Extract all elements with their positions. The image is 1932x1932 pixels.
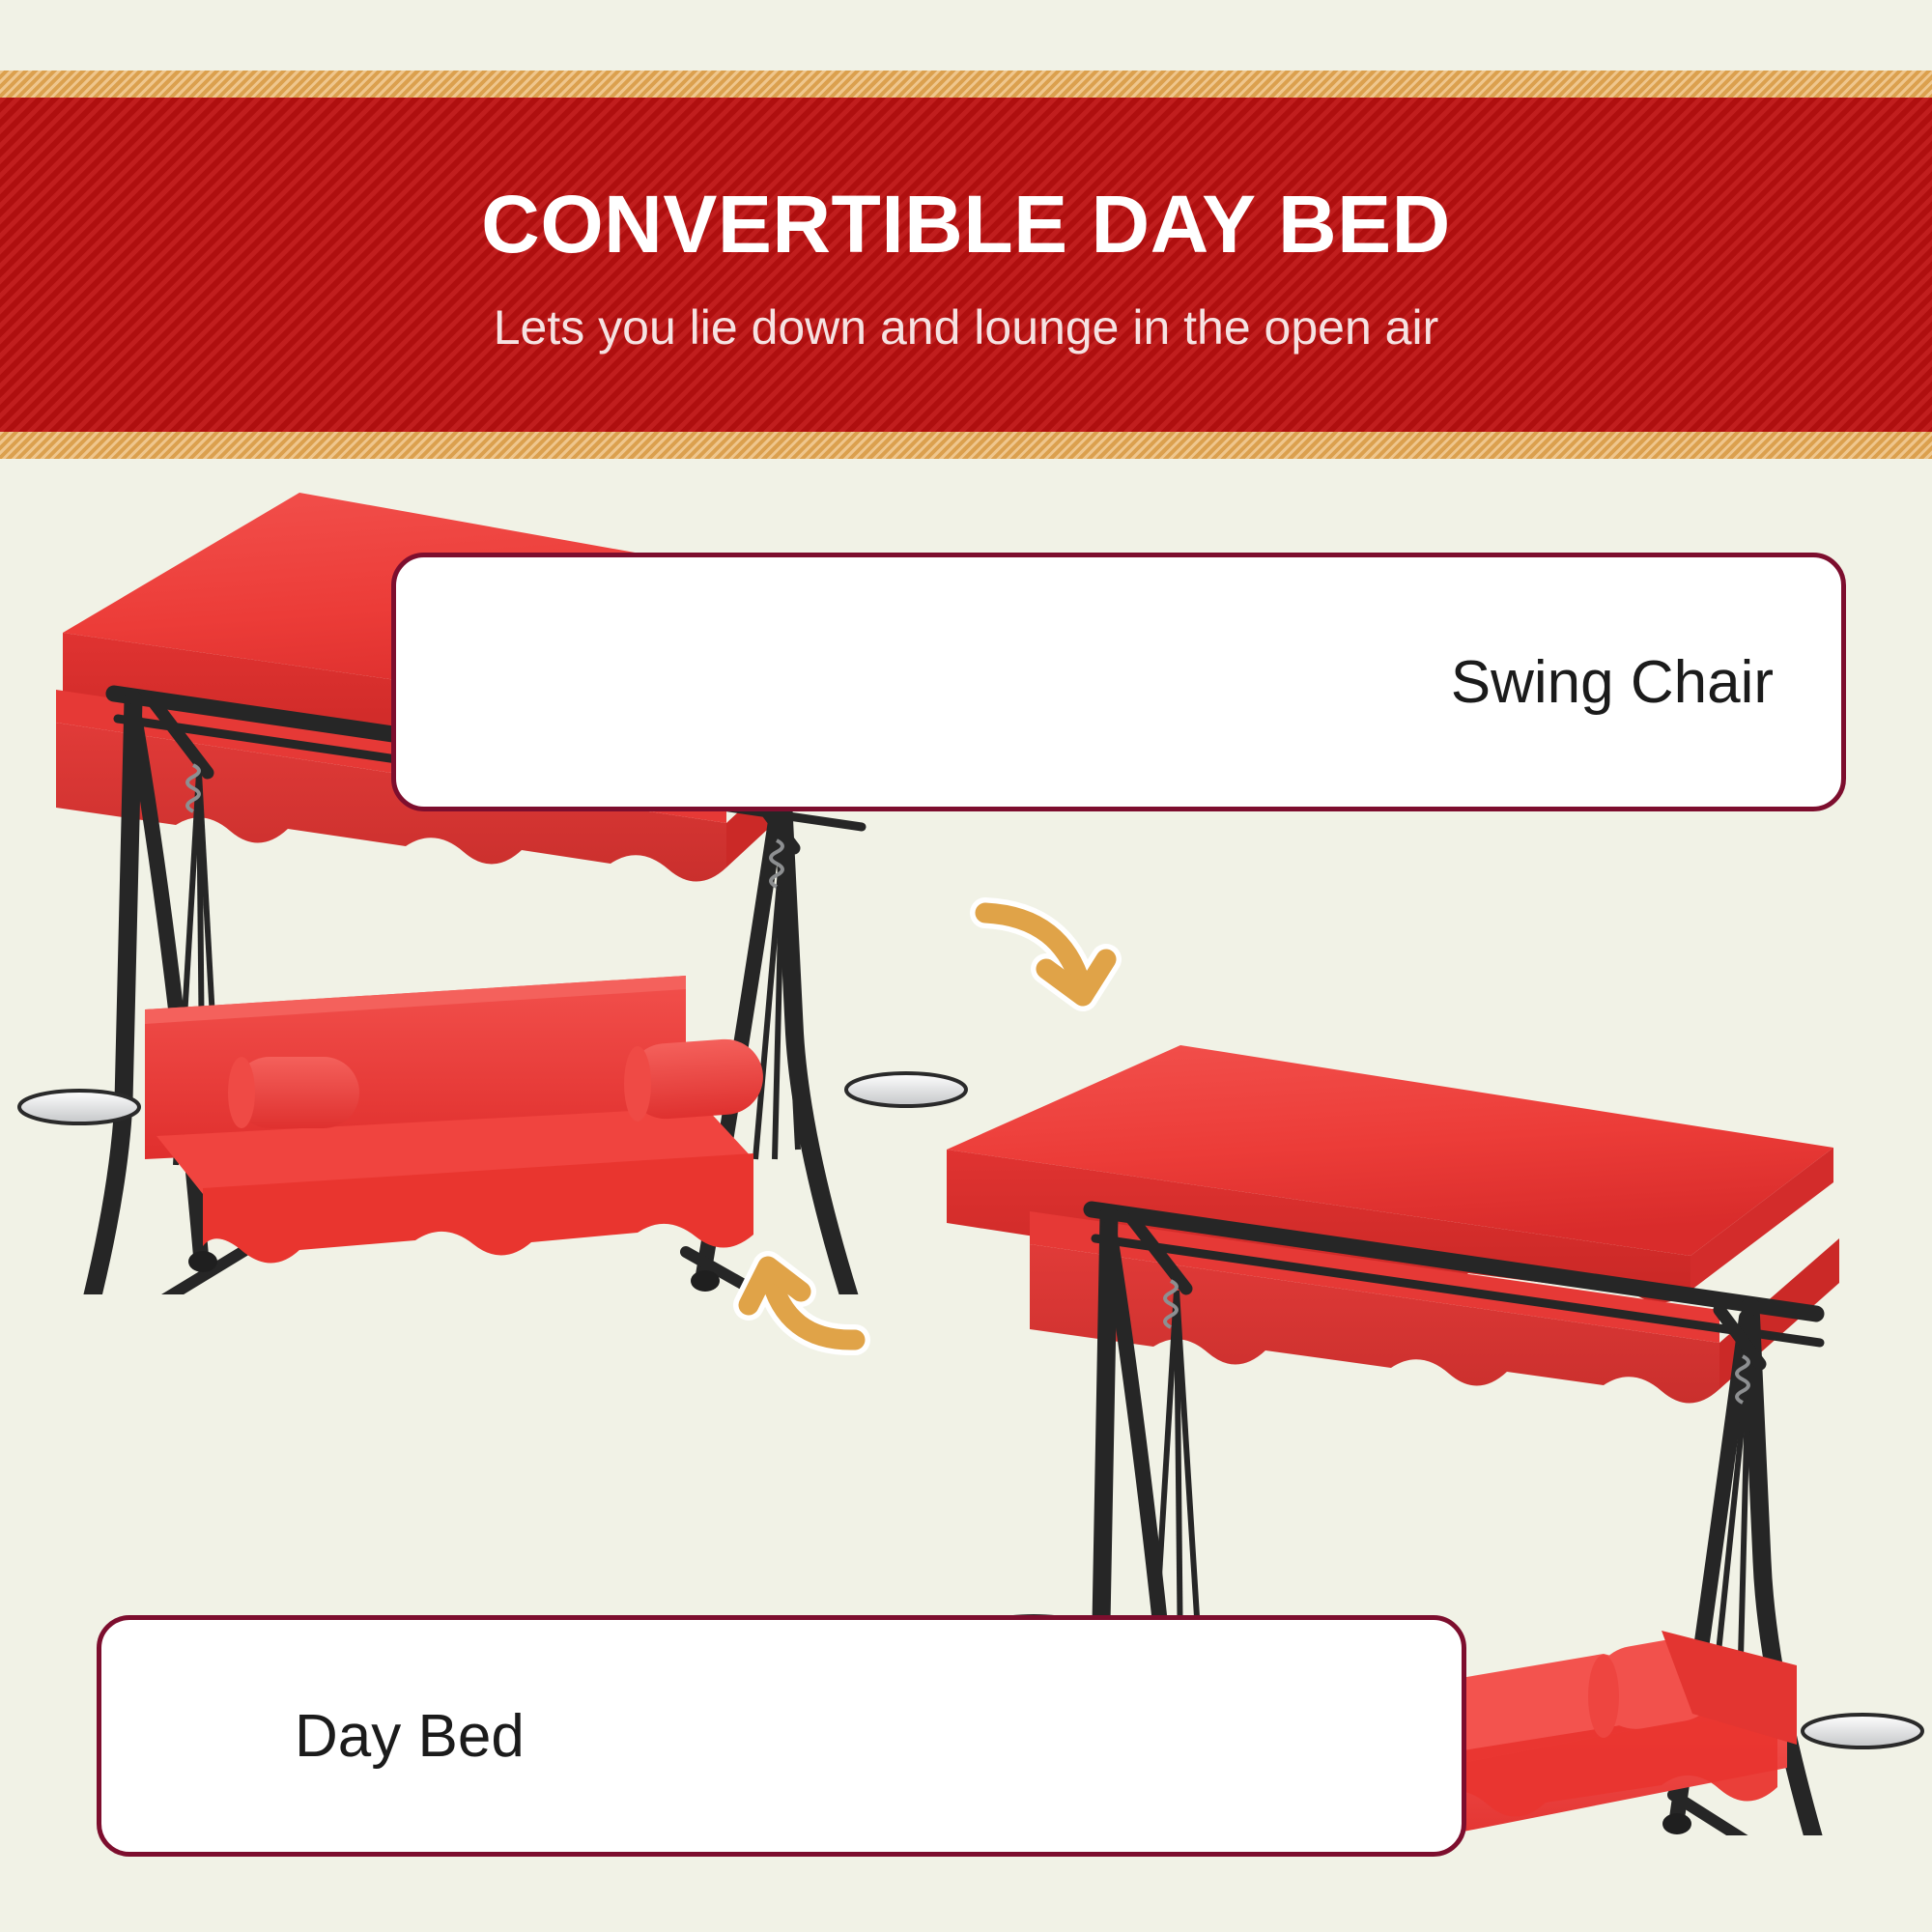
banner-body: CONVERTIBLE DAY BED Lets you lie down an… bbox=[0, 98, 1932, 432]
bolster-pillow-right bbox=[624, 1037, 766, 1122]
swing-chair-seat bbox=[145, 976, 766, 1264]
callout-label-day-bed: Day Bed bbox=[295, 1702, 525, 1771]
curved-arrow-down-right-icon bbox=[952, 884, 1174, 1029]
banner-bottom-accent-stripe bbox=[0, 432, 1932, 459]
header-banner: CONVERTIBLE DAY BED Lets you lie down an… bbox=[0, 71, 1932, 459]
bolster-pillow-left bbox=[228, 1057, 359, 1128]
curved-arrow-up-left-icon bbox=[729, 1232, 952, 1377]
swing-chair-side-table-left bbox=[19, 1091, 139, 1123]
callout-label-swing-chair: Swing Chair bbox=[1451, 648, 1774, 717]
page-title: CONVERTIBLE DAY BED bbox=[481, 184, 1451, 265]
callout-swing-chair: Swing Chair bbox=[391, 553, 1846, 811]
callout-day-bed: Day Bed bbox=[97, 1615, 1466, 1857]
day-bed-side-table-right bbox=[1803, 1715, 1922, 1747]
day-bed-canopy bbox=[947, 1045, 1839, 1404]
page-subtitle: Lets you lie down and lounge in the open… bbox=[494, 303, 1439, 352]
banner-top-accent-stripe bbox=[0, 71, 1932, 98]
